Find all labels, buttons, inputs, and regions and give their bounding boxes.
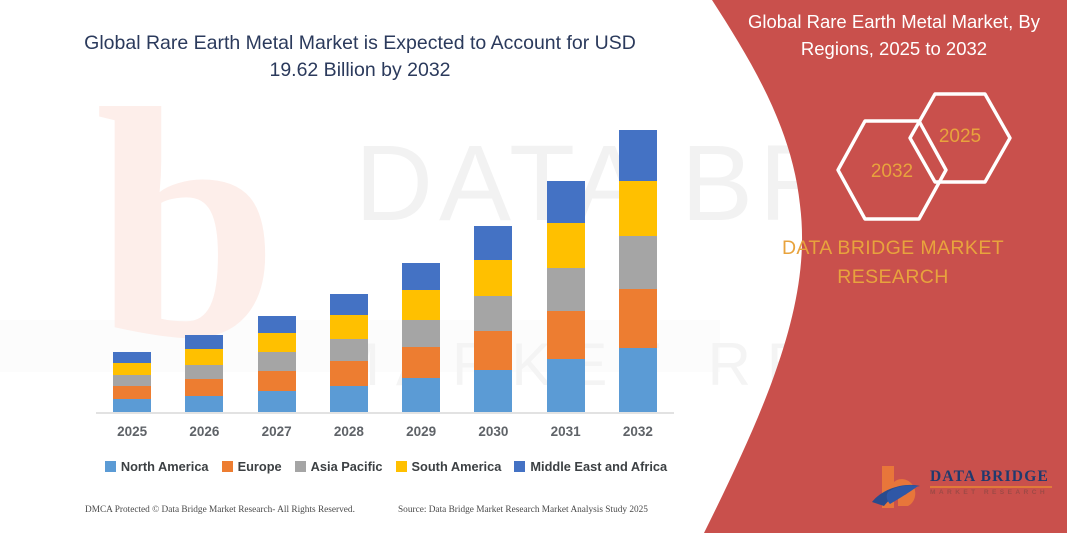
chart-legend: North AmericaEuropeAsia PacificSouth Ame…	[96, 456, 676, 476]
x-axis-labels: 20252026202720282029203020312032	[96, 424, 674, 446]
bar-segment-north-america[interactable]	[258, 391, 296, 414]
bar-segment-europe[interactable]	[113, 386, 151, 399]
legend-swatch-icon	[514, 461, 525, 472]
bar-segment-middle-east-and-africa[interactable]	[113, 352, 151, 362]
legend-label: Asia Pacific	[311, 459, 383, 474]
bar-group-2026[interactable]	[185, 335, 223, 413]
bar-segment-asia-pacific[interactable]	[402, 320, 440, 348]
bar-segment-south-america[interactable]	[547, 223, 585, 268]
bar-segment-asia-pacific[interactable]	[547, 268, 585, 311]
bar-segment-middle-east-and-africa[interactable]	[547, 181, 585, 223]
bar-segment-asia-pacific[interactable]	[330, 339, 368, 362]
legend-item-asia-pacific[interactable]: Asia Pacific	[295, 459, 383, 474]
footer-source-text: Source: Data Bridge Market Research Mark…	[398, 505, 648, 515]
data-bridge-logo: DATA BRIDGE MARKET RESEARCH	[868, 462, 1058, 514]
bar-segment-south-america[interactable]	[474, 260, 512, 296]
bar-segment-asia-pacific[interactable]	[474, 296, 512, 331]
bar-segment-asia-pacific[interactable]	[619, 236, 657, 289]
bar-segment-north-america[interactable]	[619, 348, 657, 413]
bar-group-2025[interactable]	[113, 352, 151, 413]
bar-segment-south-america[interactable]	[113, 363, 151, 375]
red-panel-content: Global Rare Earth Metal Market, By Regio…	[720, 0, 1067, 533]
bar-segment-europe[interactable]	[402, 347, 440, 378]
infographic-canvas: b DATA BRIDGE MARKET RESEARCH Global Rar…	[0, 0, 1067, 533]
bar-segment-europe[interactable]	[474, 331, 512, 370]
bar-segment-north-america[interactable]	[185, 396, 223, 413]
bar-segment-middle-east-and-africa[interactable]	[258, 316, 296, 333]
bar-segment-north-america[interactable]	[113, 399, 151, 413]
logo-divider	[930, 486, 1052, 488]
bar-segment-north-america[interactable]	[330, 386, 368, 413]
bar-group-2031[interactable]	[547, 181, 585, 413]
bar-chart-plot-area	[96, 120, 674, 413]
logo-title: DATA BRIDGE	[930, 468, 1049, 486]
bar-segment-middle-east-and-africa[interactable]	[474, 226, 512, 260]
legend-label: Europe	[238, 459, 282, 474]
legend-label: Middle East and Africa	[530, 459, 667, 474]
chart-panel: Global Rare Earth Metal Market is Expect…	[0, 0, 720, 533]
legend-item-south-america[interactable]: South America	[396, 459, 502, 474]
bar-group-2029[interactable]	[402, 263, 440, 413]
bar-segment-north-america[interactable]	[402, 378, 440, 413]
x-axis-label-2030: 2030	[458, 424, 528, 439]
x-axis-label-2029: 2029	[386, 424, 456, 439]
bar-group-2032[interactable]	[619, 130, 657, 413]
legend-swatch-icon	[396, 461, 407, 472]
x-axis-label-2025: 2025	[97, 424, 167, 439]
legend-item-europe[interactable]: Europe	[222, 459, 282, 474]
x-axis-line	[96, 412, 674, 414]
x-axis-label-2031: 2031	[531, 424, 601, 439]
bar-segment-south-america[interactable]	[258, 333, 296, 352]
bar-segment-south-america[interactable]	[185, 349, 223, 365]
panel-title: Global Rare Earth Metal Market, By Regio…	[738, 8, 1050, 62]
chart-title: Global Rare Earth Metal Market is Expect…	[70, 30, 650, 84]
bar-segment-south-america[interactable]	[330, 315, 368, 338]
legend-swatch-icon	[222, 461, 233, 472]
bar-group-2028[interactable]	[330, 294, 368, 413]
legend-item-middle-east-and-africa[interactable]: Middle East and Africa	[514, 459, 667, 474]
x-axis-label-2026: 2026	[169, 424, 239, 439]
bar-segment-europe[interactable]	[258, 371, 296, 391]
footer: DMCA Protected © Data Bridge Market Rese…	[0, 505, 700, 525]
bar-segment-asia-pacific[interactable]	[185, 365, 223, 380]
logo-subtitle: MARKET RESEARCH	[930, 489, 1048, 496]
bar-segment-north-america[interactable]	[547, 359, 585, 413]
bar-segment-middle-east-and-africa[interactable]	[619, 130, 657, 181]
bar-group-2027[interactable]	[258, 316, 296, 413]
bar-group-2030[interactable]	[474, 226, 512, 413]
legend-label: North America	[121, 459, 209, 474]
logo-mark-icon	[868, 462, 930, 512]
bar-segment-middle-east-and-africa[interactable]	[330, 294, 368, 316]
bar-segment-europe[interactable]	[330, 361, 368, 386]
x-axis-label-2032: 2032	[603, 424, 673, 439]
bar-segment-europe[interactable]	[547, 311, 585, 359]
hexagon-2032-label: 2032	[832, 161, 952, 183]
bar-segment-middle-east-and-africa[interactable]	[185, 335, 223, 349]
legend-swatch-icon	[295, 461, 306, 472]
bar-segment-asia-pacific[interactable]	[113, 375, 151, 386]
bar-segment-north-america[interactable]	[474, 370, 512, 413]
legend-item-north-america[interactable]: North America	[105, 459, 209, 474]
bar-segment-europe[interactable]	[619, 289, 657, 348]
x-axis-label-2028: 2028	[314, 424, 384, 439]
bar-segment-asia-pacific[interactable]	[258, 352, 296, 370]
footer-dmca-text: DMCA Protected © Data Bridge Market Rese…	[85, 505, 355, 515]
x-axis-label-2027: 2027	[242, 424, 312, 439]
brand-name: DATA BRIDGE MARKET RESEARCH	[743, 234, 1043, 292]
legend-swatch-icon	[105, 461, 116, 472]
bar-segment-south-america[interactable]	[619, 181, 657, 236]
hexagon-group: 2025 2032	[720, 88, 1067, 213]
bar-segment-europe[interactable]	[185, 379, 223, 395]
bar-segment-middle-east-and-africa[interactable]	[402, 263, 440, 290]
bar-segment-south-america[interactable]	[402, 290, 440, 319]
legend-label: South America	[412, 459, 502, 474]
